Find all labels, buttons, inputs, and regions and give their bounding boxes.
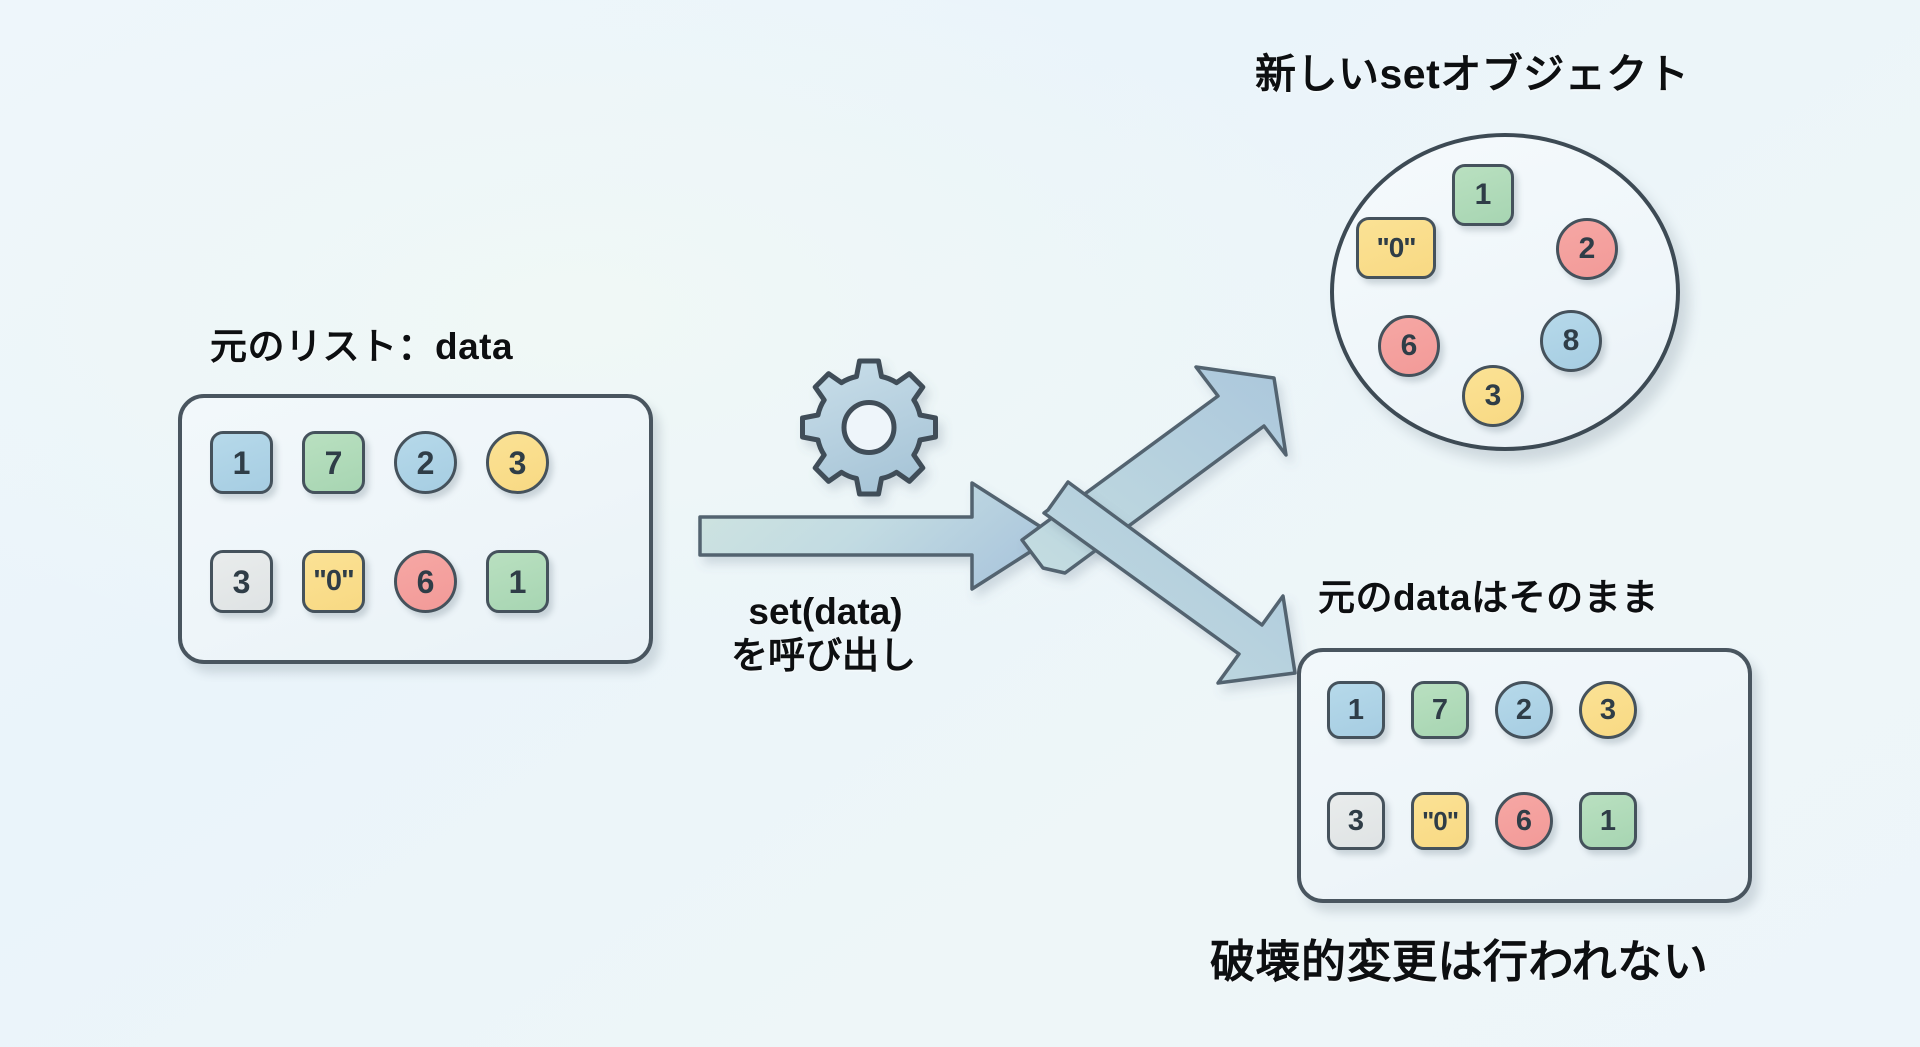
- list-item: 6: [394, 550, 457, 613]
- list-item: 1: [210, 431, 273, 494]
- original-list-row-1: 1 7 2 3: [210, 431, 549, 494]
- set-item: 8: [1540, 310, 1602, 372]
- list-item: 7: [302, 431, 365, 494]
- original-list-title: 元のリスト：data: [210, 316, 513, 370]
- unchanged-list-box: 1 7 2 3 3 "0" 6 1: [1297, 648, 1752, 903]
- list-item: 1: [1579, 792, 1637, 850]
- set-object-title: 新しいsetオブジェクト: [1255, 40, 1689, 100]
- arrow-right-icon: [700, 483, 1055, 589]
- set-item: 3: [1462, 365, 1524, 427]
- bottom-caption: 破壊的変更は行われない: [1210, 925, 1708, 990]
- unchanged-list-row-2: 3 "0" 6 1: [1327, 792, 1637, 850]
- list-item: "0": [302, 550, 365, 613]
- list-item: "0": [1411, 792, 1469, 850]
- diagram-canvas: 元のリスト：data 1 7 2 3 3 "0" 6 1 set(data) を…: [0, 0, 1920, 1047]
- arrow-label-line2: を呼び出し: [731, 634, 916, 678]
- arrow-up-right-icon: [1022, 367, 1286, 573]
- list-item: 6: [1495, 792, 1553, 850]
- list-item: 2: [394, 431, 457, 494]
- arrow-down-right-icon: [1044, 482, 1295, 683]
- list-item: 3: [1579, 681, 1637, 739]
- unchanged-list-title: 元のdataはそのまま: [1318, 567, 1659, 621]
- gear-icon: [803, 361, 936, 494]
- list-item: 3: [486, 431, 549, 494]
- arrow-label: set(data) を呼び出し: [735, 590, 916, 677]
- list-item: 3: [1327, 792, 1385, 850]
- list-item: 1: [1327, 681, 1385, 739]
- original-list-box: 1 7 2 3 3 "0" 6 1: [178, 394, 653, 664]
- set-object-circle: 1 "0" 2 6 8 3: [1330, 133, 1680, 451]
- set-item: "0": [1356, 217, 1436, 279]
- set-item: 6: [1378, 315, 1440, 377]
- set-item: 1: [1452, 164, 1514, 226]
- set-item: 2: [1556, 218, 1618, 280]
- unchanged-list-row-1: 1 7 2 3: [1327, 681, 1637, 739]
- list-item: 7: [1411, 681, 1469, 739]
- list-item: 2: [1495, 681, 1553, 739]
- original-list-row-2: 3 "0" 6 1: [210, 550, 549, 613]
- arrow-label-line1: set(data): [735, 590, 916, 634]
- list-item: 3: [210, 550, 273, 613]
- list-item: 1: [486, 550, 549, 613]
